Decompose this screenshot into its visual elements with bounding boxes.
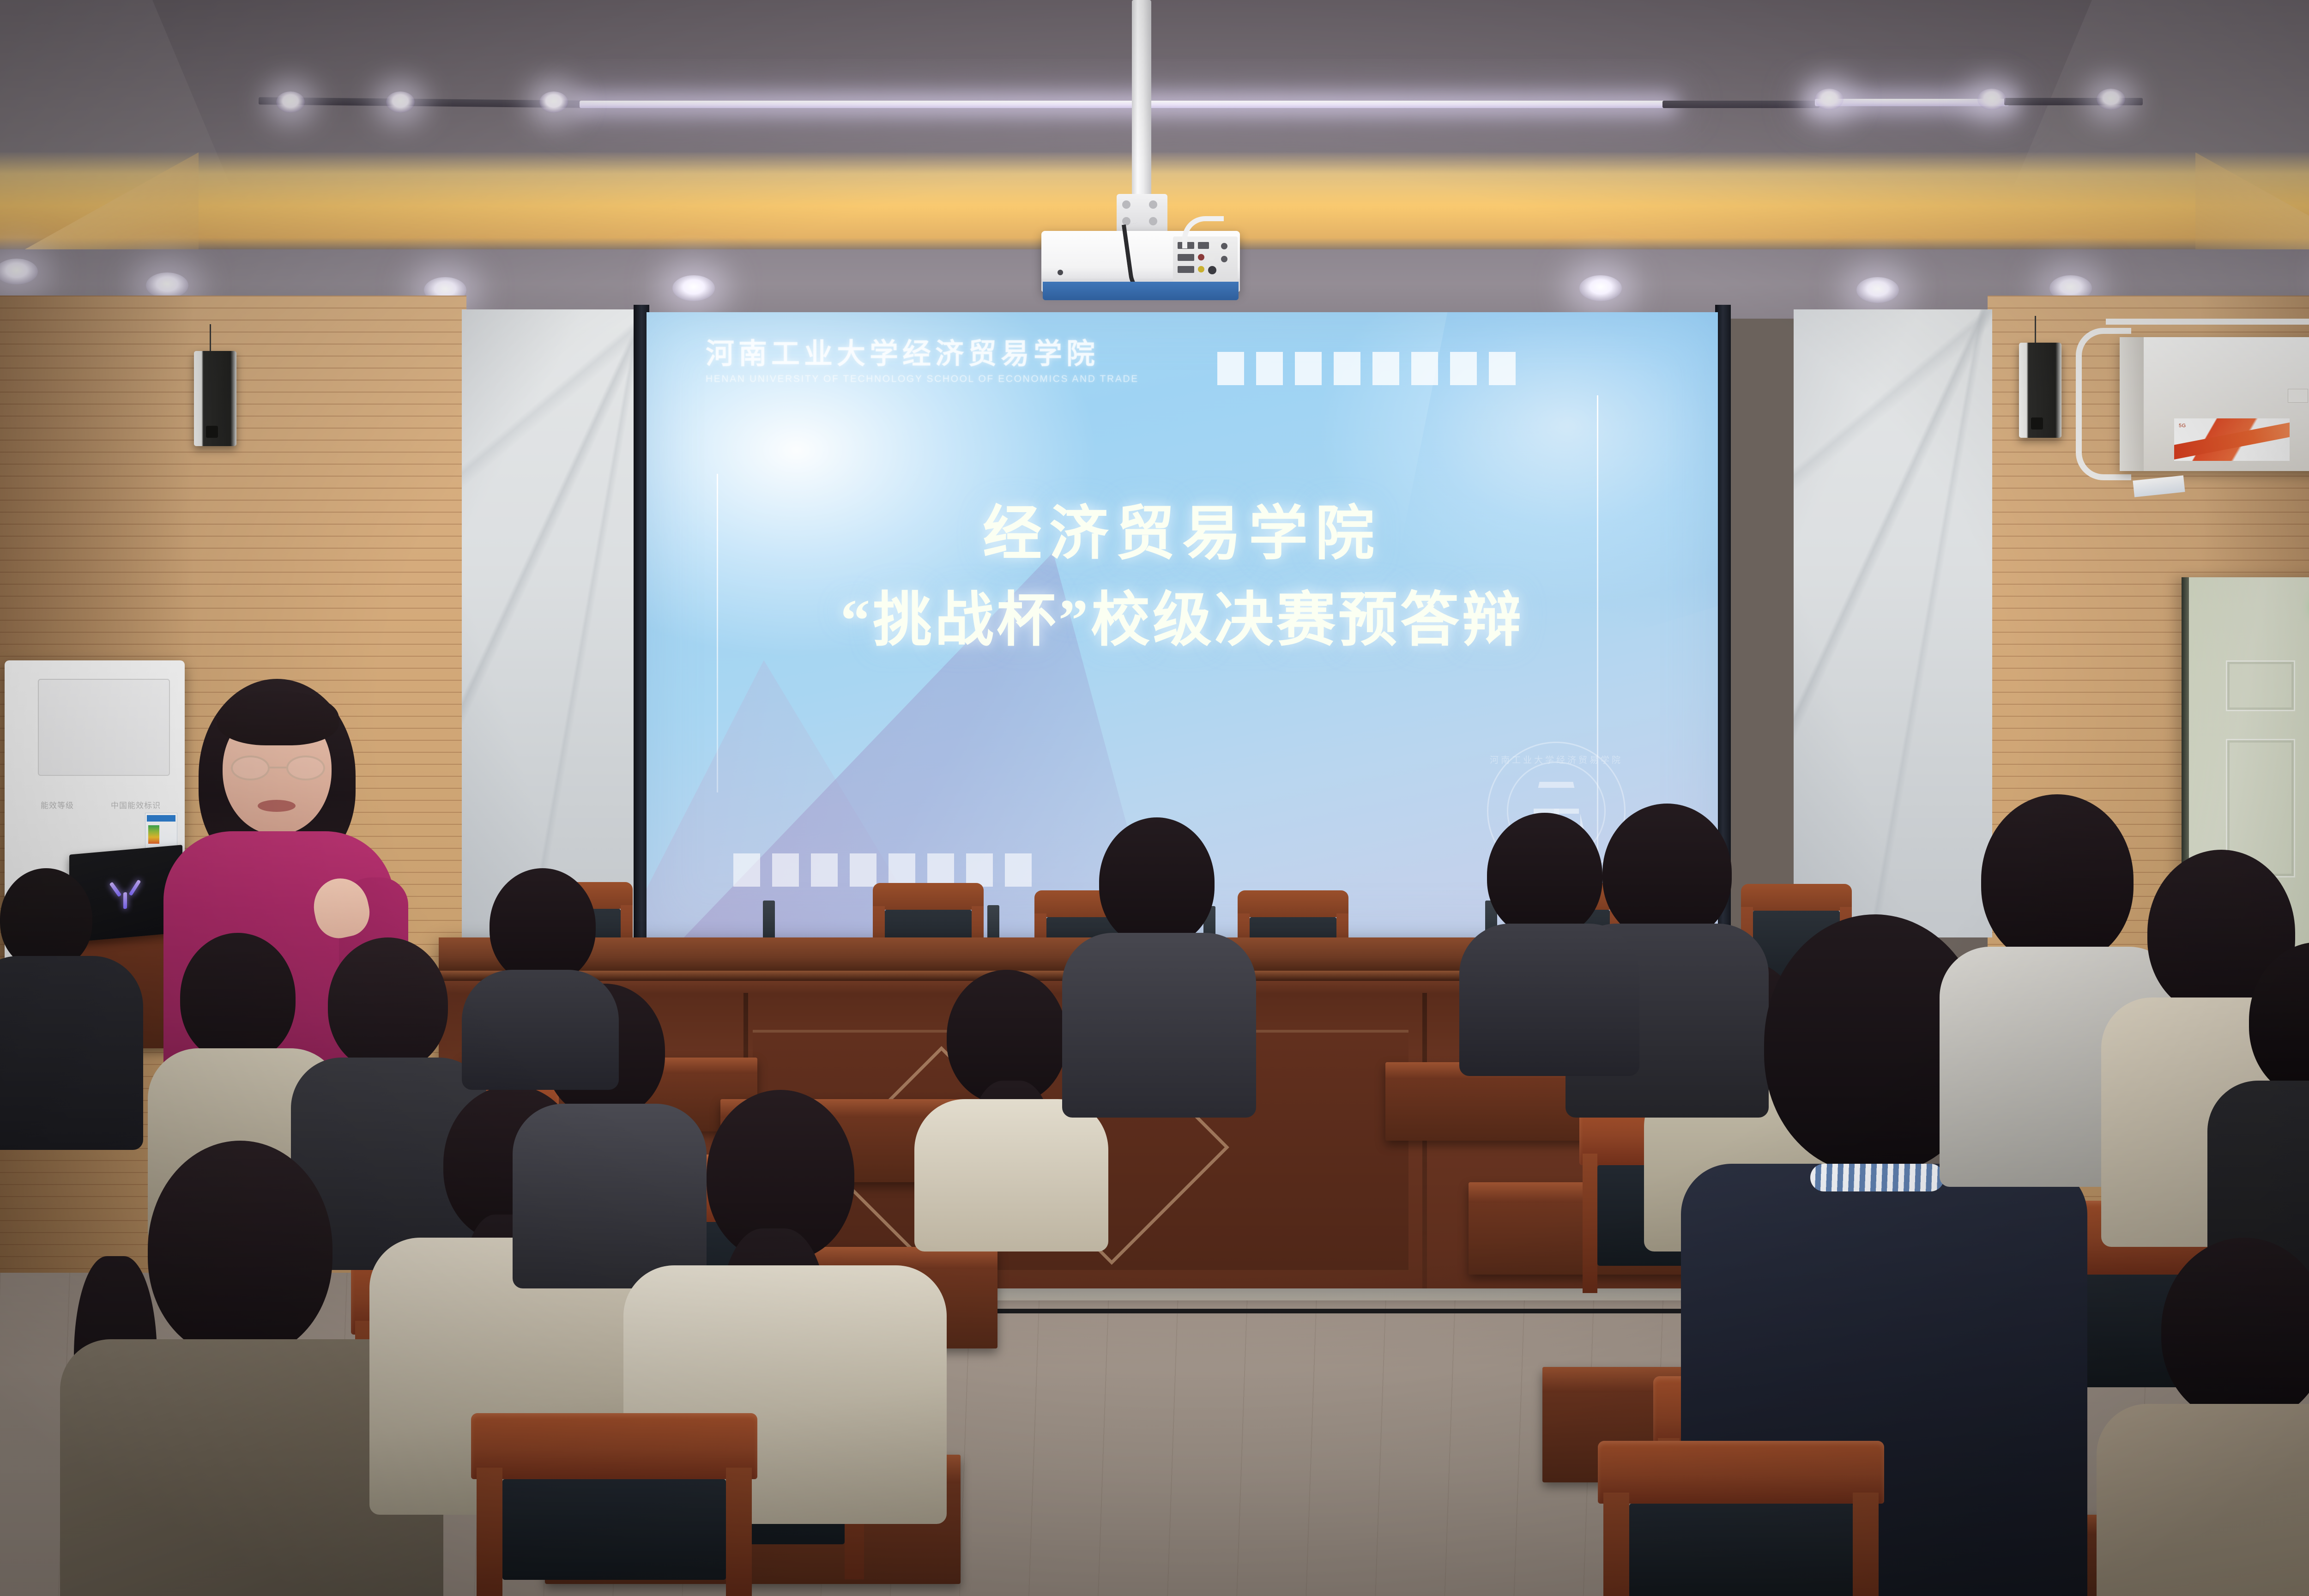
wall-speaker-left (194, 351, 236, 446)
wall-speaker-right (2019, 343, 2061, 438)
slide-decor-square (927, 853, 954, 887)
lecture-hall-photo: 河南工业大学经济贸易学院 HENAN UNIVERSITY OF TECHNOL… (0, 0, 2309, 1596)
downlight-4 (672, 275, 715, 301)
downlight-5 (1579, 275, 1622, 301)
slide-title: 经济贸易学院 “挑战杯”校级决赛预答辩 (647, 497, 1718, 658)
slide-decor-square (850, 853, 876, 887)
slide-header-en: HENAN UNIVERSITY OF TECHNOLOGY SCHOOL OF… (706, 374, 1214, 384)
slide-decor-squares-top (1217, 352, 1516, 385)
slide-decor-squares-bottom (733, 853, 1032, 887)
audience-person-10 (1058, 817, 1251, 1104)
slide-decor-square (811, 853, 838, 887)
presenter-glasses-icon (231, 756, 325, 780)
presenter-bangs (217, 691, 339, 745)
slide-decor-square (1217, 352, 1244, 385)
ceiling-light-strip-2 (580, 101, 1669, 108)
presenter-mouth (258, 800, 296, 812)
audience-person-7 (462, 868, 614, 1062)
slide-decor-square (733, 853, 760, 887)
slide-title-line2: “挑战杯”校级决赛预答辩 (647, 583, 1718, 658)
audience-person-17 (2106, 1238, 2309, 1596)
seal-arc-top: 河南工业大学经济贸易学院 (1488, 753, 1624, 766)
slide-decor-square (1450, 352, 1477, 385)
ceiling-spot-4 (1815, 89, 1844, 110)
slide-decor-square (1256, 352, 1283, 385)
slide-header: 河南工业大学经济贸易学院 HENAN UNIVERSITY OF TECHNOL… (706, 340, 1214, 384)
door-panel-1 (2226, 660, 2295, 711)
ceiling-spot-2 (386, 91, 415, 113)
seat-fg-r[interactable] (1598, 1441, 1884, 1596)
projector-mount-pole (1132, 0, 1151, 203)
audience-person-4 (83, 1141, 416, 1596)
audience-person-18 (1459, 813, 1635, 1053)
downlight-6 (1856, 277, 1899, 303)
audience-person-1 (0, 868, 134, 1127)
slide-decor-square (966, 853, 993, 887)
ceiling-spot-6 (2097, 89, 2125, 110)
ceiling-spot-5 (1977, 89, 2006, 110)
ac-text-left: 能效等级 (41, 799, 74, 810)
downlight-2 (146, 272, 188, 298)
slide-decor-square (772, 853, 799, 887)
slide-decor-square (1334, 352, 1360, 385)
5g-poster-label: 5G (2179, 423, 2186, 429)
projector-indicator-led (1058, 270, 1063, 275)
slide-decor-square (1489, 352, 1516, 385)
wall-conduit-horizontal (2106, 319, 2309, 325)
slide-decor-square (1005, 853, 1032, 887)
ceiling-spot-1 (276, 91, 305, 113)
slide-header-cn: 河南工业大学经济贸易学院 (706, 340, 1214, 369)
seat-fg-l[interactable] (471, 1413, 757, 1596)
5g-poster: 5G (2174, 418, 2290, 461)
wall-equipment-box: 5G (2120, 337, 2309, 471)
slide-title-line1: 经济贸易学院 (647, 497, 1718, 571)
striped-collar (1810, 1164, 1944, 1191)
wall-outlet (2288, 389, 2308, 403)
slide-decor-square (1411, 352, 1438, 385)
marble-pillar-left (462, 309, 644, 937)
projector-base-accent (1043, 282, 1239, 300)
slide-decor-square (1295, 352, 1322, 385)
ceiling-light-strip-3 (1662, 101, 1819, 108)
slide-decor-square (889, 853, 915, 887)
slide-decor-square (1372, 352, 1399, 385)
ac-vent (38, 679, 170, 776)
ceiling-spot-3 (539, 91, 568, 113)
